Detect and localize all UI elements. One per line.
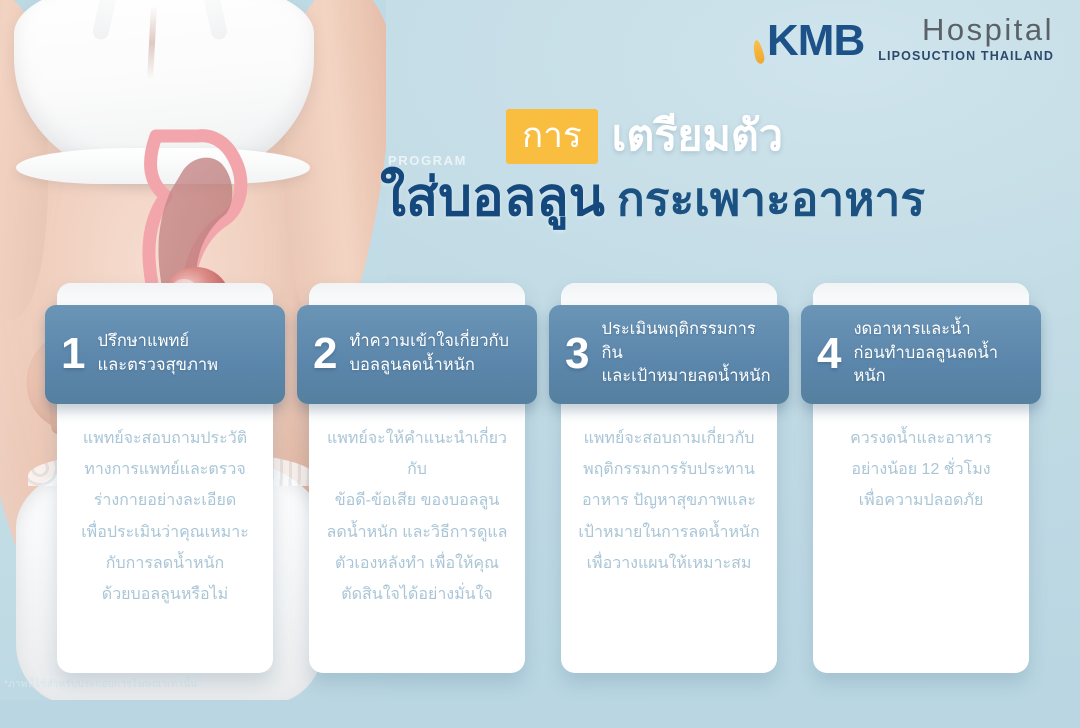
- body-line: อย่างน้อย 12 ชั่วโมง: [825, 454, 1017, 485]
- step-number: 1: [61, 332, 85, 376]
- step-badge: 3 ประเมินพฤติกรรมการกิน และเป้าหมายลดน้ำ…: [549, 305, 789, 404]
- step-badge: 1 ปรึกษาแพทย์ และตรวจสุขภาพ: [45, 305, 285, 404]
- step-title-line: ก่อนทำบอลลูนลดน้ำหนัก: [853, 344, 998, 386]
- step-card[interactable]: 4 งดอาหารและน้ำ ก่อนทำบอลลูนลดน้ำหนัก คว…: [813, 283, 1029, 673]
- step-title-line: ประเมินพฤติกรรมการกิน: [601, 320, 755, 362]
- body-line: ข้อดี-ข้อเสีย ของบอลลูน: [321, 485, 513, 516]
- step-body: ควรงดน้ำและอาหาร อย่างน้อย 12 ชั่วโมง เพ…: [813, 423, 1029, 517]
- step-title-line: ปรึกษาแพทย์: [97, 332, 189, 350]
- step-number: 4: [817, 332, 841, 376]
- headline-block: PROGRAM การ เตรียมตัว ใส่บอลลูน กระเพาะอ…: [380, 108, 1060, 227]
- step-title-line: ทำความเข้าใจเกี่ยวกับ: [349, 332, 509, 350]
- body-line: อาหาร ปัญหาสุขภาพและ: [573, 485, 765, 516]
- step-badge: 2 ทำความเข้าใจเกี่ยวกับ บอลลูนลดน้ำหนัก: [297, 305, 537, 404]
- kmb-hospital-logo: KMB Hospital LIPOSUCTION THAILAND: [767, 14, 1054, 63]
- step-title-line: และตรวจสุขภาพ: [97, 356, 218, 374]
- body-line: พฤติกรรมการรับประทาน: [573, 454, 765, 485]
- step-title-line: งดอาหารและน้ำ: [853, 320, 970, 338]
- body-line: แพทย์จะสอบถามเกี่ยวกับ: [573, 423, 765, 454]
- headline-line2-primary: ใส่บอลลูน: [380, 168, 605, 227]
- body-line: เป้าหมายในการลดน้ำหนัก: [573, 517, 765, 548]
- body-line: ลดน้ำหนัก และวิธีการดูแล: [321, 517, 513, 548]
- step-body: แพทย์จะสอบถามเกี่ยวกับ พฤติกรรมการรับประ…: [561, 423, 777, 579]
- headline-line2-secondary: กระเพาะอาหาร: [617, 174, 925, 226]
- step-title-line: และเป้าหมายลดน้ำหนัก: [601, 367, 770, 385]
- body-line: ควรงดน้ำและอาหาร: [825, 423, 1017, 454]
- step-title-line: บอลลูนลดน้ำหนัก: [349, 356, 474, 374]
- step-title: งดอาหารและน้ำ ก่อนทำบอลลูนลดน้ำหนัก: [853, 318, 1029, 390]
- step-body: แพทย์จะให้คำแนะนำเกี่ยวกับ ข้อดี-ข้อเสีย…: [309, 423, 525, 610]
- logo-hospital-text: Hospital: [878, 14, 1054, 45]
- body-line: ด้วยบอลลูนหรือไม่: [69, 579, 261, 610]
- body-line: เพื่อวางแผนให้เหมาะสม: [573, 548, 765, 579]
- body-line: เพื่อประเมินว่าคุณเหมาะ: [69, 517, 261, 548]
- headline-line1: เตรียมตัว: [612, 115, 783, 158]
- steps-card-row: 1 ปรึกษาแพทย์ และตรวจสุขภาพ แพทย์จะสอบถา…: [57, 283, 1029, 673]
- body-line: ทางการแพทย์และตรวจ: [69, 454, 261, 485]
- step-card[interactable]: 2 ทำความเข้าใจเกี่ยวกับ บอลลูนลดน้ำหนัก …: [309, 283, 525, 673]
- logo-tagline: LIPOSUCTION THAILAND: [878, 50, 1054, 63]
- step-title: ประเมินพฤติกรรมการกิน และเป้าหมายลดน้ำหน…: [601, 318, 777, 390]
- body-line: แพทย์จะให้คำแนะนำเกี่ยวกับ: [321, 423, 513, 485]
- body-line: ตัดสินใจได้อย่างมั่นใจ: [321, 579, 513, 610]
- body-line: ร่างกายอย่างละเอียด: [69, 485, 261, 516]
- body-line: กับการลดน้ำหนัก: [69, 548, 261, 579]
- step-body: แพทย์จะสอบถามประวัติ ทางการแพทย์และตรวจ …: [57, 423, 273, 610]
- step-title: ทำความเข้าใจเกี่ยวกับ บอลลูนลดน้ำหนัก: [349, 330, 509, 378]
- step-badge: 4 งดอาหารและน้ำ ก่อนทำบอลลูนลดน้ำหนัก: [801, 305, 1041, 404]
- body-line: แพทย์จะสอบถามประวัติ: [69, 423, 261, 454]
- step-number: 2: [313, 332, 337, 376]
- step-card[interactable]: 1 ปรึกษาแพทย์ และตรวจสุขภาพ แพทย์จะสอบถา…: [57, 283, 273, 673]
- flame-icon: [751, 39, 766, 64]
- logo-brand-text: KMB: [767, 16, 864, 65]
- logo-wordmark: KMB: [767, 19, 864, 63]
- step-card[interactable]: 3 ประเมินพฤติกรรมการกิน และเป้าหมายลดน้ำ…: [561, 283, 777, 673]
- step-title: ปรึกษาแพทย์ และตรวจสุขภาพ: [97, 330, 218, 378]
- headline-chip: การ: [506, 109, 598, 164]
- program-label: PROGRAM: [388, 153, 467, 168]
- step-number: 3: [565, 332, 589, 376]
- body-line: ตัวเองหลังทำ เพื่อให้คุณ: [321, 548, 513, 579]
- body-line: เพื่อความปลอดภัย: [825, 485, 1017, 516]
- footnote-disclaimer: *ภาพนี้ใช้สำหรับประกอบการโฆษณาเท่านั้น: [4, 677, 197, 692]
- infographic-root: *ภาพนี้ใช้สำหรับประกอบการโฆษณาเท่านั้น K…: [0, 0, 1080, 728]
